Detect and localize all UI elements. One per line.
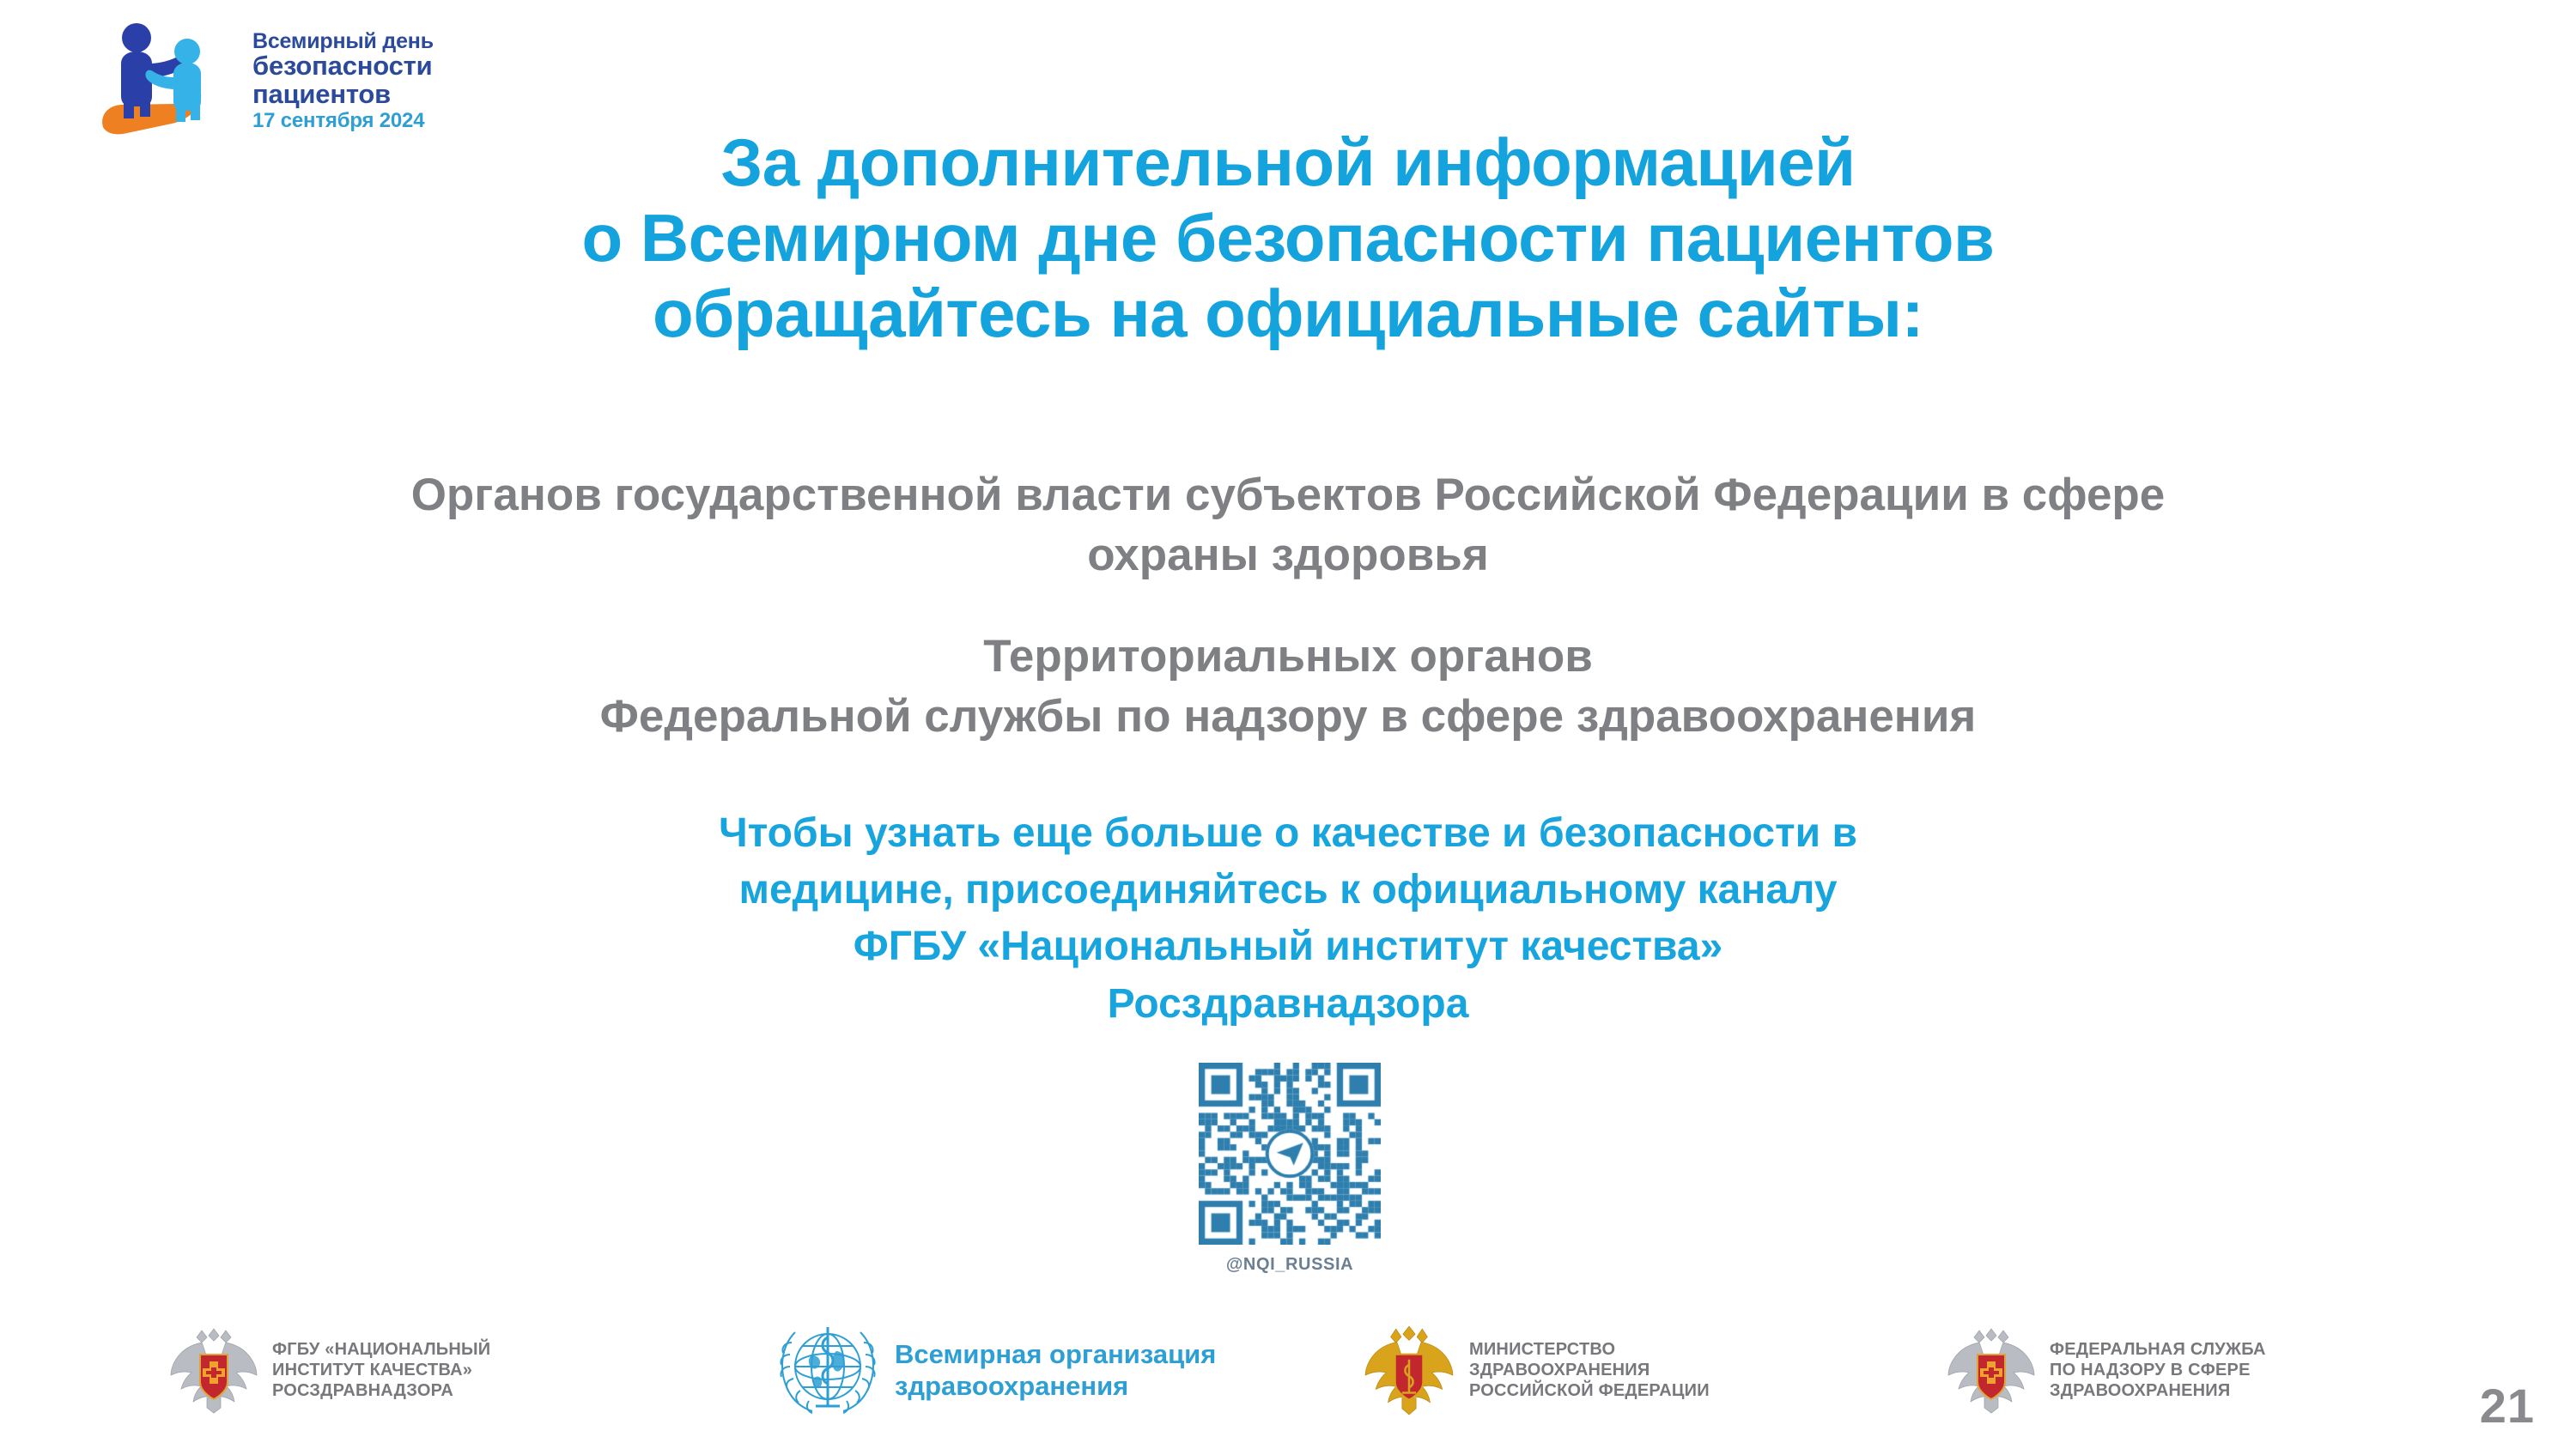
footer-nqi-line-1: ФГБУ «НАЦИОНАЛЬНЫЙ [272,1339,490,1360]
event-logo-line-3: пациентов [252,81,434,109]
footer-nqi-line-3: РОСЗДРАВНАДЗОРА [272,1380,490,1401]
footer-logo-roszdravnadzor: ФЕДЕРАЛЬНАЯ СЛУЖБА ПО НАДЗОРУ В СФЕРЕ ЗД… [1945,1313,2266,1427]
footer-nqi-line-2: ИНСТИТУТ КАЧЕСТВА» [272,1360,490,1380]
footer-rzn-line-2: ПО НАДЗОРУ В СФЕРЕ [2050,1360,2266,1380]
body-paragraph-regional-authorities: Органов государственной власти субъектов… [172,465,2404,585]
gray1-line-1: Органов государственной власти субъектов… [172,465,2404,525]
footer-who-line-1: Всемирная организация [895,1338,1216,1370]
gray1-line-2: охраны здоровья [172,525,2404,585]
page-title: За дополнительной информацией о Всемирно… [258,124,2318,351]
world-patient-safety-day-logo-icon [93,14,240,148]
blue-line-3: ФГБУ «Национальный институт качества» [343,919,2233,975]
footer-rzn-line-1: ФЕДЕРАЛЬНАЯ СЛУЖБА [2050,1339,2266,1360]
russian-double-headed-eagle-silver-emblem-icon [167,1322,260,1418]
blue-line-2: медицине, присоединяйтесь к официальному… [343,862,2233,919]
blue-line-4: Росздравнадзора [343,976,2233,1033]
event-logo-line-2: безопасности [252,52,434,81]
footer-logo-minzdrav: МИНИСТЕРСТВО ЗДРАВООХРАНЕНИЯ РОССИЙСКОЙ … [1361,1313,1710,1427]
gray2-line-1: Территориальных органов [172,627,2404,687]
footer-logo-who-text: Всемирная организация здравоохранения [895,1338,1216,1402]
russian-double-headed-eagle-gold-emblem-icon [1361,1321,1457,1419]
presentation-slide: Всемирный день безопасности пациентов 17… [0,0,2576,1449]
footer-logo-minzdrav-text: МИНИСТЕРСТВО ЗДРАВООХРАНЕНИЯ РОССИЙСКОЙ … [1469,1339,1710,1401]
event-logo-text: Всемирный день безопасности пациентов 17… [252,30,434,132]
headline-line-1: За дополнительной информацией [258,124,2318,200]
footer-logo-roszdravnadzor-text: ФЕДЕРАЛЬНАЯ СЛУЖБА ПО НАДЗОРУ В СФЕРЕ ЗД… [2050,1339,2266,1401]
footer-who-line-2: здравоохранения [895,1370,1216,1402]
footer-logo-nqi-text: ФГБУ «НАЦИОНАЛЬНЫЙ ИНСТИТУТ КАЧЕСТВА» РО… [272,1339,490,1401]
body-paragraph-telegram-invitation: Чтобы узнать еще больше о качестве и без… [343,805,2233,1033]
footer-minzdrav-line-2: ЗДРАВООХРАНЕНИЯ [1469,1360,1710,1380]
russian-double-headed-eagle-silver-emblem-icon [1945,1322,2038,1418]
gray2-line-2: Федеральной службы по надзору в сфере зд… [172,687,2404,747]
blue-line-1: Чтобы узнать еще больше о качестве и без… [343,805,2233,862]
headline-line-2: о Всемирном дне безопасности пациентов [258,200,2318,276]
telegram-qr-code[interactable] [1199,1063,1381,1245]
telegram-handle-label: @NQI_RUSSIA [1199,1255,1381,1275]
footer-minzdrav-line-3: РОССИЙСКОЙ ФЕДЕРАЦИИ [1469,1380,1710,1401]
event-logo-line-1: Всемирный день [252,30,434,52]
footer-minzdrav-line-1: МИНИСТЕРСТВО [1469,1339,1710,1360]
slide-page-number: 21 [2480,1378,2535,1434]
footer-logo-who: Всемирная организация здравоохранения [773,1313,1216,1427]
telegram-qr-block[interactable]: @NQI_RUSSIA [1199,1063,1381,1275]
footer-rzn-line-3: ЗДРАВООХРАНЕНИЯ [2050,1380,2266,1401]
footer-logo-nqi: ФГБУ «НАЦИОНАЛЬНЫЙ ИНСТИТУТ КАЧЕСТВА» РО… [167,1313,490,1427]
footer-logo-bar: ФГБУ «НАЦИОНАЛЬНЫЙ ИНСТИТУТ КАЧЕСТВА» РО… [0,1313,2576,1434]
body-paragraph-territorial-bodies: Территориальных органов Федеральной служ… [172,627,2404,747]
who-emblem-icon [773,1317,883,1423]
headline-line-3: обращайтесь на официальные сайты: [258,276,2318,351]
